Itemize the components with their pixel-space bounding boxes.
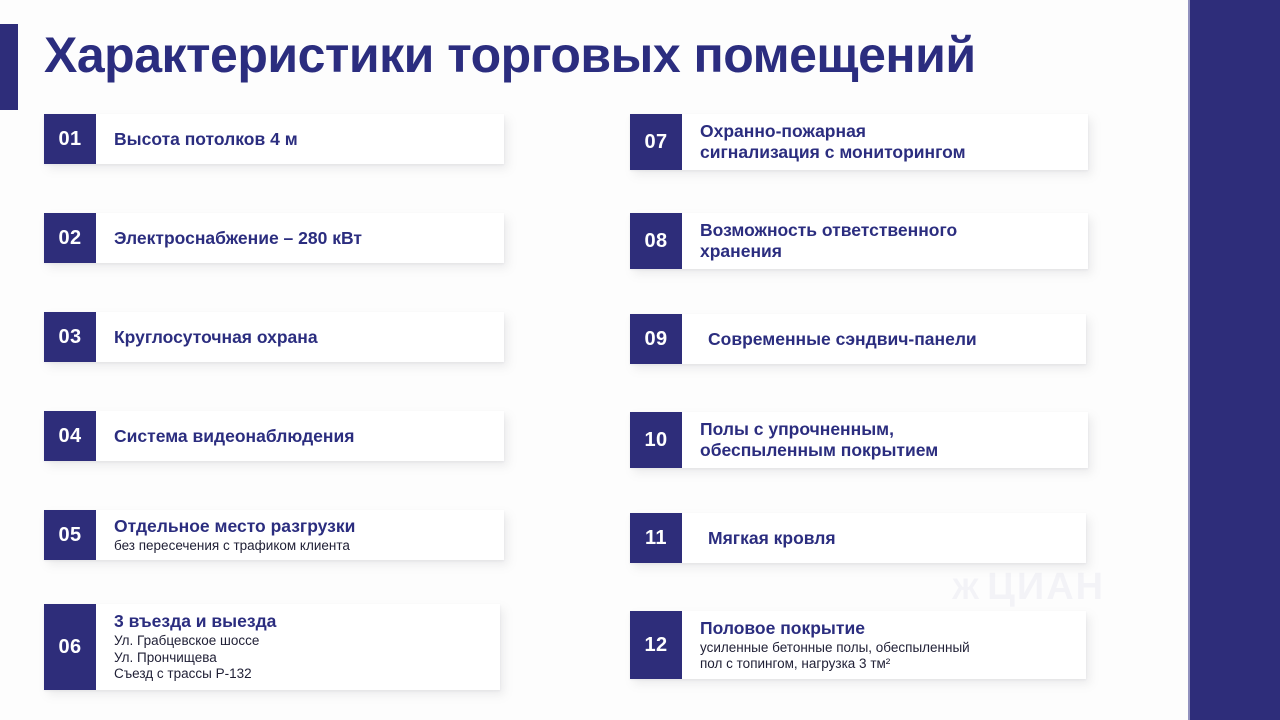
feature-title: Высота потолков 4 м (114, 129, 490, 150)
watermark-mark-icon: Ж (952, 573, 981, 607)
feature-number-badge: 03 (44, 312, 96, 362)
feature-card-08: 08Возможность ответственного хранения (630, 213, 1088, 269)
feature-number-badge: 11 (630, 513, 682, 563)
feature-title: Современные сэндвич-панели (708, 329, 1072, 350)
feature-number-badge: 07 (630, 114, 682, 170)
feature-subtitle: Ул. Грабцевское шоссе Ул. Прончищева Съе… (114, 633, 486, 683)
feature-card-07: 07Охранно-пожарная сигнализация с монито… (630, 114, 1088, 170)
feature-card-body: Возможность ответственного хранения (682, 213, 1088, 269)
feature-number-badge: 09 (630, 314, 682, 364)
slide-root: Характеристики торговых помещений ЖЦИАН … (0, 0, 1280, 720)
feature-title: Возможность ответственного хранения (700, 220, 1074, 262)
accent-bar-left-decoration (0, 24, 18, 110)
feature-card-11: 11Мягкая кровля (630, 513, 1086, 563)
feature-card-body: Половое покрытиеусиленные бетонные полы,… (682, 611, 1086, 679)
feature-number-badge: 08 (630, 213, 682, 269)
feature-card-body: 3 въезда и выездаУл. Грабцевское шоссе У… (96, 604, 500, 690)
feature-title: Половое покрытие (700, 618, 1072, 639)
feature-title: 3 въезда и выезда (114, 611, 486, 632)
feature-card-02: 02Электроснабжение – 280 кВт (44, 213, 504, 263)
feature-title: Охранно-пожарная сигнализация с монитори… (700, 121, 1074, 163)
feature-title: Полы с упрочненным, обеспыленным покрыти… (700, 419, 1074, 461)
feature-card-body: Полы с упрочненным, обеспыленным покрыти… (682, 412, 1088, 468)
feature-card-05: 05Отдельное место разгрузкибез пересечен… (44, 510, 504, 560)
edge-bar-right-decoration (1190, 0, 1280, 720)
feature-card-09: 09Современные сэндвич-панели (630, 314, 1086, 364)
feature-number-badge: 04 (44, 411, 96, 461)
page-title: Характеристики торговых помещений (44, 26, 1124, 84)
feature-title: Электроснабжение – 280 кВт (114, 228, 490, 249)
feature-card-06: 063 въезда и выездаУл. Грабцевское шоссе… (44, 604, 500, 690)
feature-title: Мягкая кровля (708, 528, 1072, 549)
feature-number-badge: 10 (630, 412, 682, 468)
feature-card-body: Система видеонаблюдения (96, 411, 504, 461)
feature-card-body: Мягкая кровля (682, 513, 1086, 563)
feature-subtitle: усиленные бетонные полы, обеспыленный по… (700, 640, 1072, 673)
feature-title: Система видеонаблюдения (114, 426, 490, 447)
feature-card-01: 01Высота потолков 4 м (44, 114, 504, 164)
feature-card-body: Современные сэндвич-панели (682, 314, 1086, 364)
feature-card-body: Отдельное место разгрузкибез пересечения… (96, 510, 504, 560)
feature-card-body: Круглосуточная охрана (96, 312, 504, 362)
feature-number-badge: 12 (630, 611, 682, 679)
feature-card-03: 03Круглосуточная охрана (44, 312, 504, 362)
feature-number-badge: 05 (44, 510, 96, 560)
cian-watermark: ЖЦИАН (952, 566, 1105, 609)
feature-number-badge: 01 (44, 114, 96, 164)
feature-subtitle: без пересечения с трафиком клиента (114, 538, 490, 555)
watermark-text: ЦИАН (987, 566, 1105, 608)
feature-number-badge: 02 (44, 213, 96, 263)
feature-title: Круглосуточная охрана (114, 327, 490, 348)
feature-card-12: 12Половое покрытиеусиленные бетонные пол… (630, 611, 1086, 679)
feature-number-badge: 06 (44, 604, 96, 690)
feature-title: Отдельное место разгрузки (114, 516, 490, 537)
feature-card-body: Высота потолков 4 м (96, 114, 504, 164)
feature-card-body: Охранно-пожарная сигнализация с монитори… (682, 114, 1088, 170)
feature-card-body: Электроснабжение – 280 кВт (96, 213, 504, 263)
feature-card-04: 04Система видеонаблюдения (44, 411, 504, 461)
feature-card-10: 10Полы с упрочненным, обеспыленным покры… (630, 412, 1088, 468)
